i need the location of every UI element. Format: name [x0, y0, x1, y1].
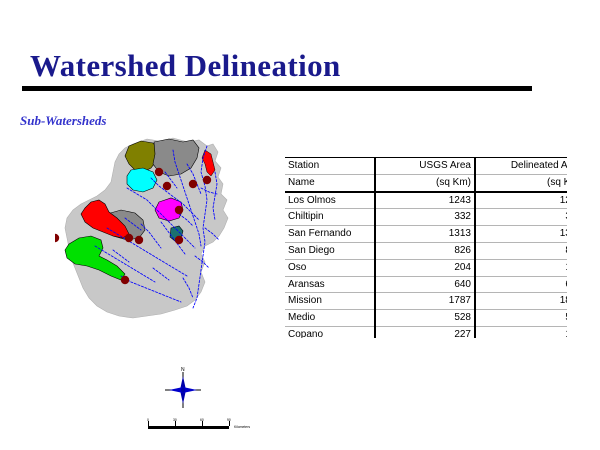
cell-station-name: San Diego — [285, 242, 375, 259]
cell-station-name: Los Olmos — [285, 192, 375, 209]
cell-station-name: Medio — [285, 310, 375, 327]
scale-segment — [175, 426, 202, 429]
table-row: Copano 227 141 — [285, 326, 567, 338]
table-row: Mission 1787 1801 — [285, 293, 567, 310]
slide: Watershed Delineation Sub-Watersheds — [0, 0, 600, 450]
table-header-row-1: Station USGS Area Delineated Area — [285, 158, 567, 174]
scale-label: 60 — [200, 418, 204, 422]
section-subtitle: Sub-Watersheds — [20, 113, 106, 129]
cell-usgs-area: 332 — [375, 209, 475, 226]
station-marker — [135, 236, 143, 244]
cell-usgs-area: 640 — [375, 276, 475, 293]
header-delineated-area: Delineated Area — [475, 158, 567, 174]
station-marker — [163, 182, 171, 190]
station-marker — [121, 276, 129, 284]
cell-delineated-area: 527 — [475, 310, 567, 327]
station-marker — [55, 234, 59, 242]
scale-label: 90 — [227, 418, 231, 422]
watershed-map-graphic — [55, 128, 270, 358]
station-marker — [125, 234, 133, 242]
cell-delineated-area: 821 — [475, 242, 567, 259]
north-arrow-label: N — [181, 367, 185, 373]
title-divider — [22, 86, 532, 91]
cell-delineated-area: 1393 — [475, 226, 567, 243]
cell-usgs-area: 1313 — [375, 226, 475, 243]
station-marker — [155, 168, 163, 176]
cell-usgs-area: 528 — [375, 310, 475, 327]
table-row: Chiltipin 332 339 — [285, 209, 567, 226]
cell-delineated-area: 1801 — [475, 293, 567, 310]
page-title: Watershed Delineation — [30, 48, 341, 84]
header-usgs-units: (sq Km) — [375, 174, 475, 191]
cell-usgs-area: 227 — [375, 326, 475, 338]
cell-station-name: Oso — [285, 259, 375, 276]
table-row: Aransas 640 629 — [285, 276, 567, 293]
header-name: Name — [285, 174, 375, 191]
cell-delineated-area: 149 — [475, 259, 567, 276]
table-header-row-2: Name (sq Km) (sq Km) — [285, 174, 567, 191]
header-station: Station — [285, 158, 375, 174]
table-body: Station USGS Area Delineated Area Name (… — [285, 158, 567, 338]
table-row: Oso 204 149 — [285, 259, 567, 276]
cell-station-name: Aransas — [285, 276, 375, 293]
station-area-table: Station USGS Area Delineated Area Name (… — [285, 158, 567, 338]
cell-usgs-area: 204 — [375, 259, 475, 276]
north-arrow: N — [160, 368, 206, 412]
subwatershed-copano — [127, 168, 157, 192]
scale-units-label: Kilometers — [234, 425, 250, 429]
header-usgs-area: USGS Area — [375, 158, 475, 174]
station-area-table-container: Station USGS Area Delineated Area Name (… — [285, 158, 567, 338]
cell-usgs-area: 1787 — [375, 293, 475, 310]
cell-delineated-area: 1236 — [475, 192, 567, 209]
scale-label: 0 — [147, 418, 149, 422]
cell-station-name: Copano — [285, 326, 375, 338]
cell-delineated-area: 141 — [475, 326, 567, 338]
cell-station-name: San Fernando — [285, 226, 375, 243]
scale-segment — [202, 426, 229, 429]
station-marker — [189, 180, 197, 188]
scale-label: 30 — [173, 418, 177, 422]
table-row: San Diego 826 821 — [285, 242, 567, 259]
cell-delineated-area: 629 — [475, 276, 567, 293]
table-row: San Fernando 1313 1393 — [285, 226, 567, 243]
scale-segment — [148, 426, 175, 429]
header-delineated-units: (sq Km) — [475, 174, 567, 191]
cell-usgs-area: 1243 — [375, 192, 475, 209]
map-scale-bar: 0 30 60 90 Kilometers — [148, 418, 253, 434]
station-marker — [203, 176, 211, 184]
cell-usgs-area: 826 — [375, 242, 475, 259]
station-marker — [175, 206, 183, 214]
station-marker — [175, 236, 183, 244]
cell-station-name: Mission — [285, 293, 375, 310]
table-row: Medio 528 527 — [285, 310, 567, 327]
table-row: Los Olmos 1243 1236 — [285, 192, 567, 209]
cell-delineated-area: 339 — [475, 209, 567, 226]
compass-rose-icon — [160, 368, 206, 412]
cell-station-name: Chiltipin — [285, 209, 375, 226]
